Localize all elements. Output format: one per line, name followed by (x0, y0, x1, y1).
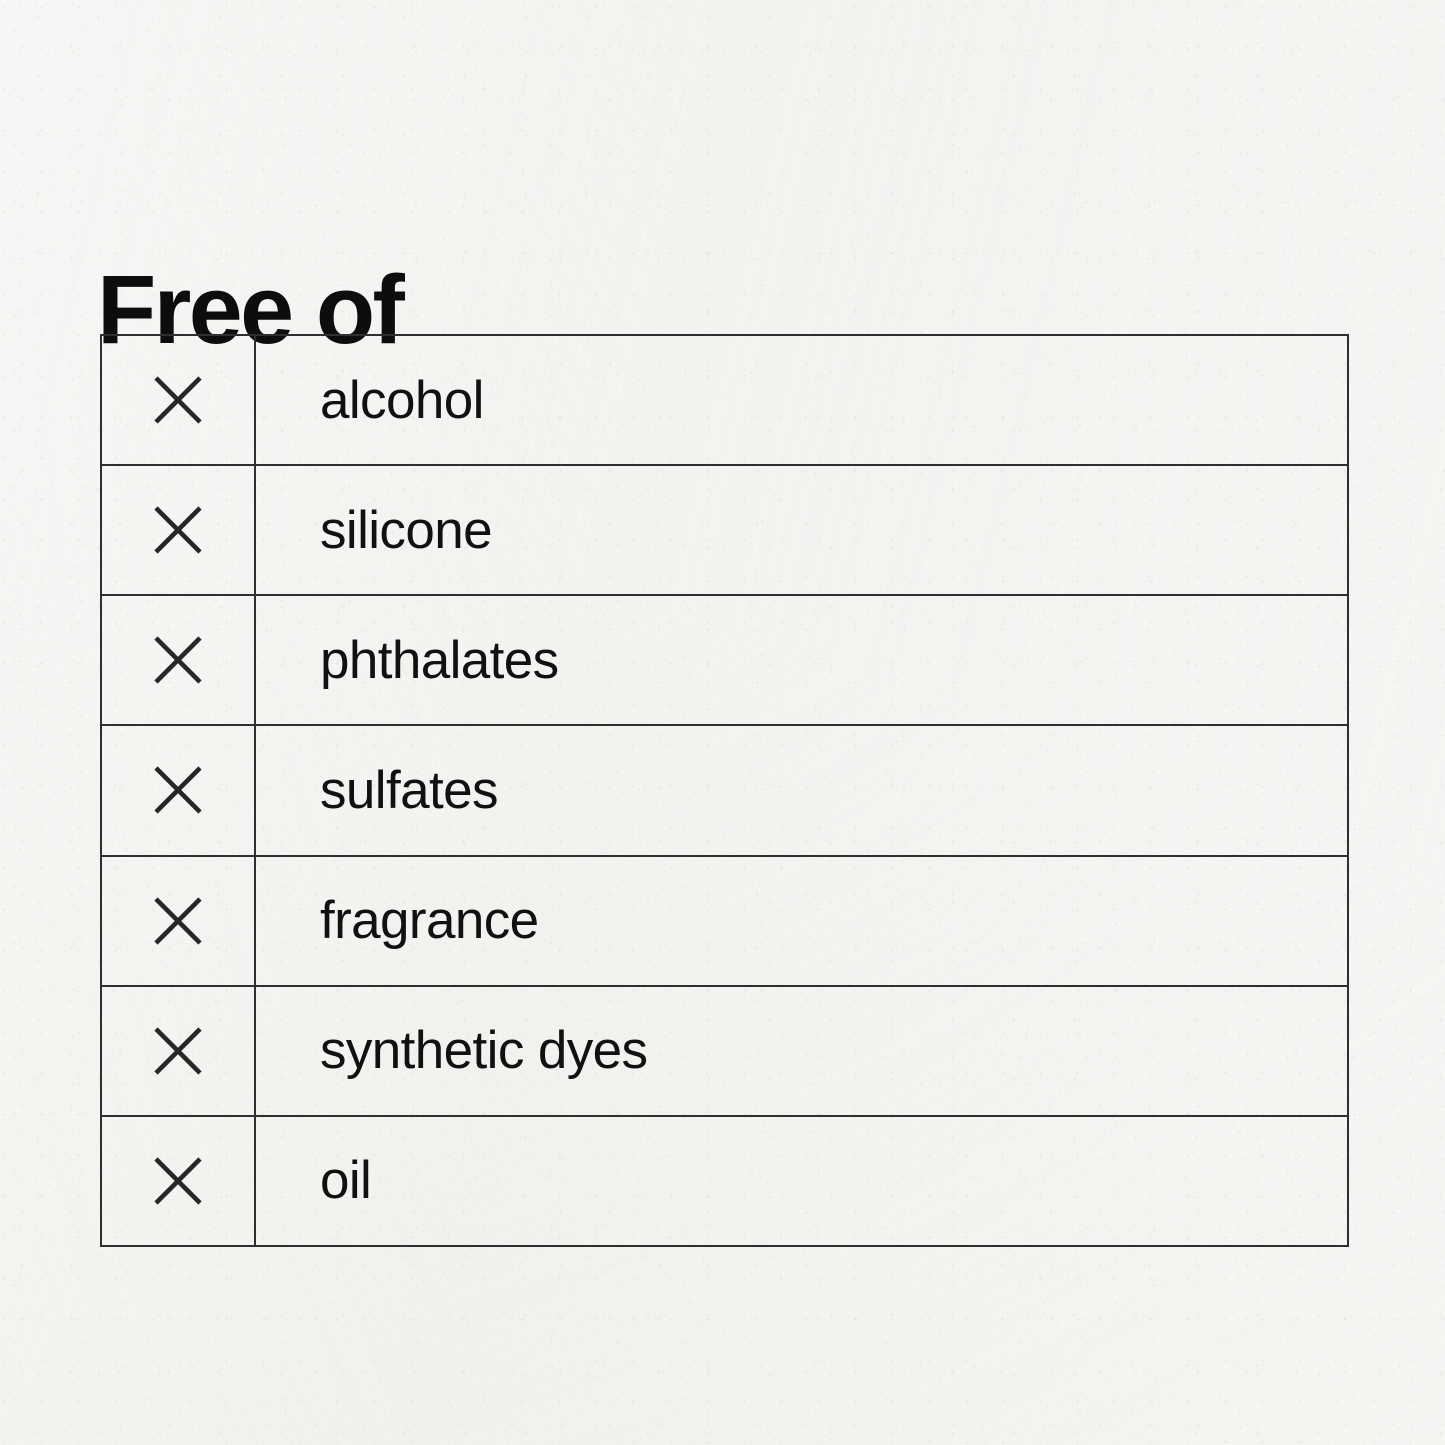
table-row: fragrance (102, 857, 1347, 987)
page-canvas: Free of alcohol (0, 0, 1445, 1445)
table-cell-label: fragrance (256, 857, 1347, 985)
x-mark-icon (153, 765, 203, 815)
table-row: sulfates (102, 726, 1347, 856)
table-cell-icon (102, 596, 256, 724)
table-cell-label: synthetic dyes (256, 987, 1347, 1115)
table-cell-label: sulfates (256, 726, 1347, 854)
x-mark-icon (153, 1156, 203, 1206)
table-row: silicone (102, 466, 1347, 596)
free-of-table: alcohol silicone (100, 334, 1349, 1247)
table-row: oil (102, 1117, 1347, 1245)
table-cell-icon (102, 336, 256, 464)
table-cell-icon (102, 1117, 256, 1245)
table-cell-label: oil (256, 1117, 1347, 1245)
x-mark-icon (153, 505, 203, 555)
table-cell-icon (102, 726, 256, 854)
table-cell-label: phthalates (256, 596, 1347, 724)
table-row: synthetic dyes (102, 987, 1347, 1117)
table-cell-icon (102, 857, 256, 985)
x-mark-icon (153, 375, 203, 425)
table-cell-label: silicone (256, 466, 1347, 594)
x-mark-icon (153, 1026, 203, 1076)
x-mark-icon (153, 896, 203, 946)
x-mark-icon (153, 635, 203, 685)
table-cell-icon (102, 466, 256, 594)
table-row: phthalates (102, 596, 1347, 726)
table-cell-icon (102, 987, 256, 1115)
table-row: alcohol (102, 336, 1347, 466)
table-cell-label: alcohol (256, 336, 1347, 464)
